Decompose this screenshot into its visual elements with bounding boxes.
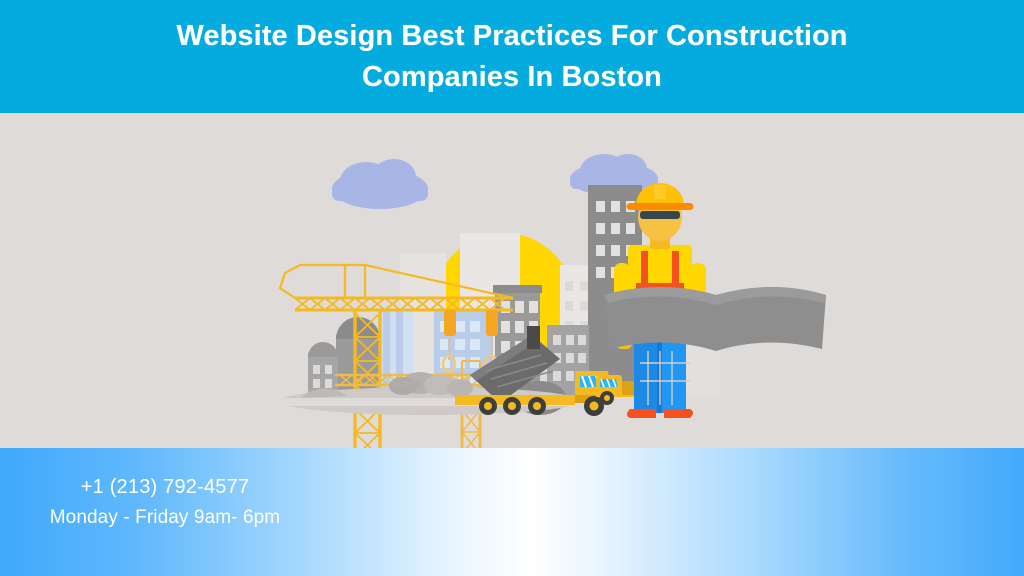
page-title-line-1: Website Design Best Practices For Constr… <box>176 20 847 52</box>
cloud-left-icon <box>332 159 428 209</box>
footer-bar: +1 (213) 792-4577 Monday - Friday 9am- 6… <box>0 448 1024 576</box>
header-bar: Website Design Best Practices For Constr… <box>0 0 1024 113</box>
footer-contact-block: +1 (213) 792-4577 Monday - Friday 9am- 6… <box>0 472 330 533</box>
construction-scene-svg: UNDER CONSTRUCTION <box>0 113 1024 448</box>
promo-banner: Website Design Best Practices For Constr… <box>0 0 1024 576</box>
hero-illustration: UNDER CONSTRUCTION <box>0 113 1024 448</box>
page-title: Website Design Best Practices For Constr… <box>92 16 932 98</box>
page-title-line-2: Companies In Boston <box>362 61 662 93</box>
business-hours: Monday - Friday 9am- 6pm <box>0 502 330 533</box>
phone-number[interactable]: +1 (213) 792-4577 <box>0 472 330 502</box>
